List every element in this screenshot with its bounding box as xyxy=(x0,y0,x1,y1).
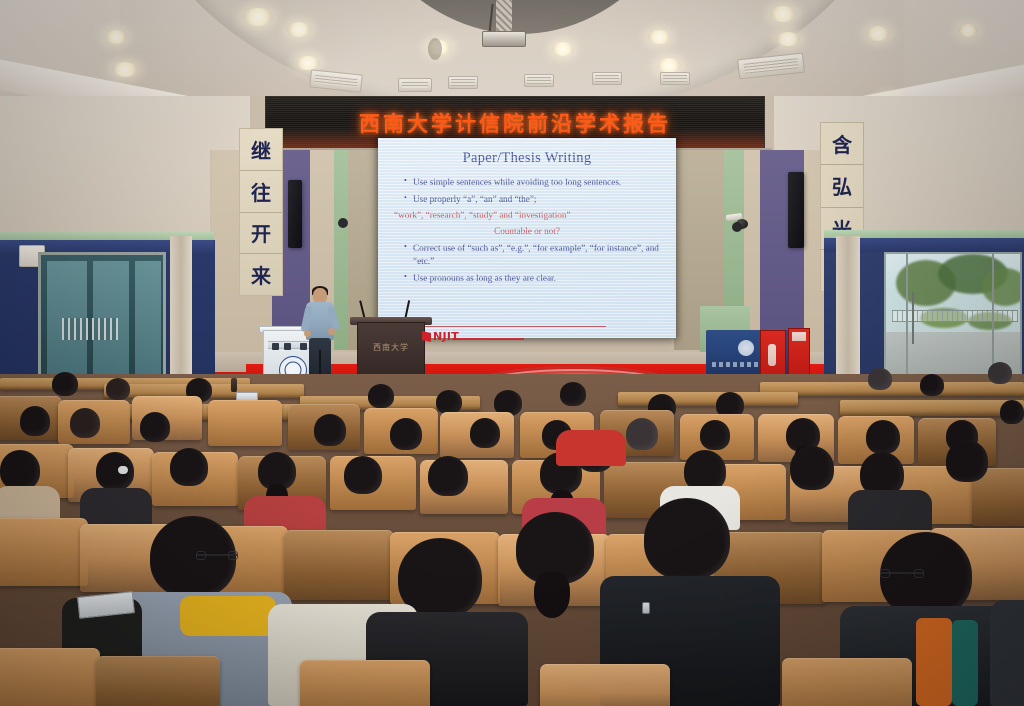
audience-head xyxy=(52,372,78,396)
auditorium-seat-foreground[interactable] xyxy=(0,648,100,706)
audience-shoulders xyxy=(556,430,626,466)
slide-underline xyxy=(418,326,606,327)
audience-head xyxy=(314,414,346,446)
audience-scarf xyxy=(180,596,276,636)
audience-backpack-strap xyxy=(916,618,952,706)
slide-bullet-list: Use simple sentences while avoiding too … xyxy=(388,176,666,206)
auditorium-seat[interactable] xyxy=(208,400,282,446)
calligraphy-char: 往 xyxy=(240,171,282,213)
air-conditioner-vent-icon xyxy=(660,72,690,85)
projector-icon xyxy=(482,0,526,48)
presentation-slide: Paper/Thesis Writing Use simple sentence… xyxy=(378,138,676,338)
auditorium-seat-foreground[interactable] xyxy=(96,656,220,706)
auditorium-seat-foreground[interactable] xyxy=(540,664,670,706)
audience-head xyxy=(96,452,134,490)
air-conditioner-vent-icon xyxy=(592,72,622,85)
audience-shoulders xyxy=(990,600,1024,706)
window-exterior-railing xyxy=(892,310,1018,322)
audience-head xyxy=(344,456,382,494)
audience-backpack-strap xyxy=(952,620,978,706)
slide-bullet: Use properly “a”, “an” and “the”; xyxy=(404,193,666,206)
door-glass-pane xyxy=(135,261,161,379)
presenter xyxy=(302,288,338,388)
auditorium-photo: 西南大学计信院前沿学术报告 继 往 开 来 含 弘 光 大 Paper/Thes… xyxy=(0,0,1024,706)
audience-head xyxy=(170,448,208,486)
led-banner-text: 西南大学计信院前沿学术报告 xyxy=(266,108,764,138)
presenter-hand-left xyxy=(304,330,311,337)
calligraphy-char: 弘 xyxy=(821,165,863,207)
audience-head xyxy=(920,374,944,396)
audience-ponytail xyxy=(534,572,570,618)
ceiling-grille xyxy=(428,38,442,60)
slide-highlight-line-1: “work”, “research”, “study” and “investi… xyxy=(388,209,666,222)
wall-pillar-left xyxy=(170,236,192,386)
audience-head xyxy=(0,450,40,490)
audience-head xyxy=(470,418,500,448)
smartphone[interactable] xyxy=(642,602,650,614)
projection-screen: Paper/Thesis Writing Use simple sentence… xyxy=(378,138,676,338)
ceiling-downlight-icon xyxy=(958,24,978,37)
njit-logo-text: NJIT xyxy=(433,330,459,343)
stairwell-railing xyxy=(62,318,118,340)
slide-bullet-list-2: Correct use of “such as”, “e.g.”, “for e… xyxy=(388,242,666,285)
njit-underline xyxy=(452,338,524,340)
audience-head xyxy=(700,420,730,450)
audience-head xyxy=(20,406,50,436)
face-mask xyxy=(118,466,128,474)
audience-head xyxy=(946,440,988,482)
presenter-hand-right xyxy=(328,328,335,335)
water-bottle xyxy=(231,378,237,392)
slide-bullet: Correct use of “such as”, “e.g.”, “for e… xyxy=(404,242,666,268)
audience-head xyxy=(866,420,900,454)
slide-highlight-line-2: Countable or not? xyxy=(388,225,666,238)
njit-mark-icon xyxy=(422,331,431,342)
audience-head xyxy=(1000,400,1024,424)
auditorium-seat[interactable] xyxy=(284,530,394,600)
air-conditioner-vent-icon xyxy=(398,78,432,92)
audience-head xyxy=(150,516,236,598)
lectern-control-button xyxy=(272,343,279,350)
audience-head xyxy=(436,390,462,414)
calligraphy-char: 来 xyxy=(240,254,282,295)
loudspeaker-small-icon xyxy=(732,222,742,232)
red-panel-inner-graphic-2 xyxy=(792,332,806,341)
audience-head xyxy=(428,456,468,496)
ceiling-downlight-icon xyxy=(296,56,320,70)
ceiling-downlight-icon xyxy=(648,30,671,44)
ceiling-downlight-icon xyxy=(105,30,127,44)
desk-row xyxy=(760,382,1024,396)
calligraphy-char: 继 xyxy=(240,129,282,171)
auditorium-seat[interactable] xyxy=(0,518,88,586)
slide-bullet: Use pronouns as long as they are clear. xyxy=(404,272,666,285)
audience-head xyxy=(70,408,100,438)
audience-head xyxy=(868,368,892,390)
ceiling-downlight-icon xyxy=(866,26,890,41)
red-panel-inner-graphic xyxy=(768,344,776,366)
desk-row xyxy=(618,392,798,406)
ceiling-downlight-icon xyxy=(112,62,138,77)
eyeglasses xyxy=(880,572,924,574)
loudspeaker-small-icon xyxy=(338,218,348,228)
ceiling-downlight-icon xyxy=(552,42,574,56)
audience-head xyxy=(644,498,730,580)
audience-head xyxy=(140,412,170,442)
audience-head xyxy=(790,446,834,490)
auditorium-seat-foreground[interactable] xyxy=(782,658,912,706)
audience-head xyxy=(988,362,1012,384)
window-door-handle xyxy=(912,292,914,344)
tree-foliage xyxy=(982,268,1022,306)
njit-logo: NJIT xyxy=(422,330,459,343)
loudspeaker-icon xyxy=(288,180,302,248)
air-conditioner-vent-icon xyxy=(524,74,554,87)
audience-head xyxy=(560,382,586,406)
projector-body xyxy=(482,31,526,47)
audience-head xyxy=(368,384,394,408)
ceiling-downlight-icon xyxy=(770,6,796,22)
ceiling-downlight-icon xyxy=(657,58,681,73)
calligraphy-char: 开 xyxy=(240,213,282,255)
loudspeaker-icon xyxy=(788,172,804,248)
ceiling-downlight-icon xyxy=(776,32,800,46)
window-mullion-vertical xyxy=(906,254,908,382)
projector-cable xyxy=(488,4,493,34)
desk-row xyxy=(840,400,1024,416)
audience-head xyxy=(106,378,130,400)
wall-pillar-right xyxy=(836,236,860,386)
ceiling-downlight-icon xyxy=(287,22,311,37)
lectern-control-button xyxy=(284,343,291,350)
eyeglasses xyxy=(196,554,238,556)
table-emblem xyxy=(738,340,754,356)
calligraphy-char: 含 xyxy=(821,123,863,165)
projector-mount xyxy=(496,0,512,34)
slide-title: Paper/Thesis Writing xyxy=(388,150,666,167)
air-conditioner-vent-icon xyxy=(448,76,478,89)
audience-head xyxy=(626,418,658,450)
audience-head xyxy=(390,418,422,450)
auditorium-seat-foreground[interactable] xyxy=(300,660,430,706)
ceiling-downlight-icon xyxy=(243,8,273,26)
lectern-right-label: 西南大学 xyxy=(357,342,425,353)
table-banner-text xyxy=(712,362,800,367)
calligraphy-left: 继 往 开 来 xyxy=(239,128,283,296)
slide-bullet: Use simple sentences while avoiding too … xyxy=(404,176,666,189)
